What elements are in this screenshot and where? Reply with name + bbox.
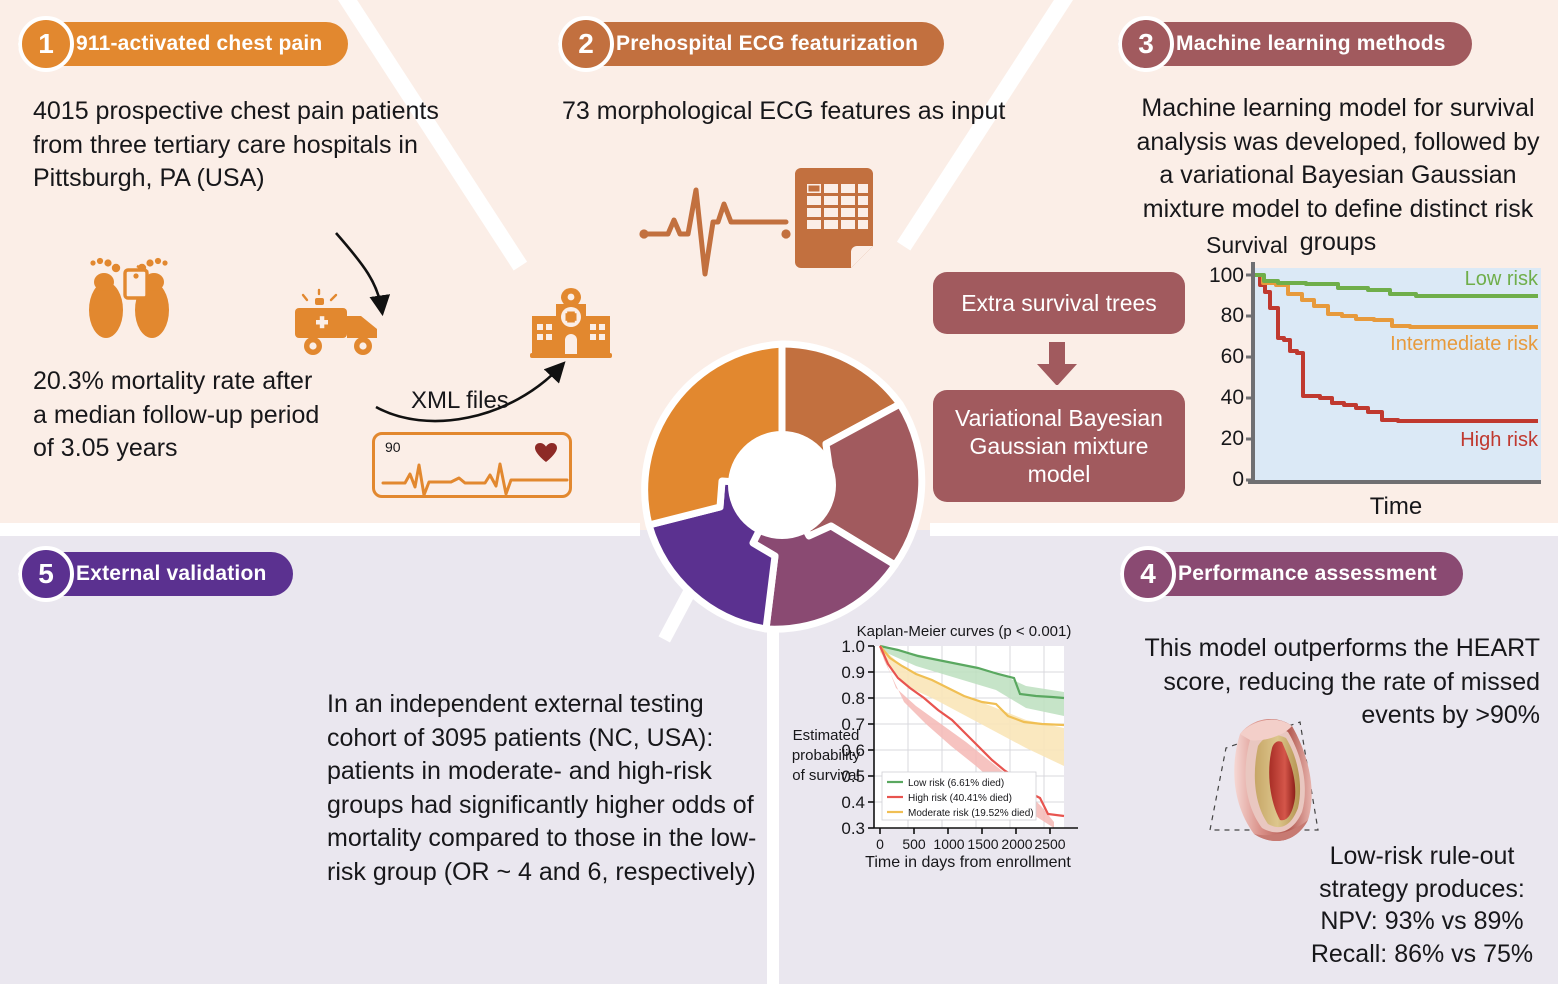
metric-line-4: Recall: 86% vs 75% xyxy=(1296,938,1548,971)
svg-text:40: 40 xyxy=(1221,386,1244,409)
kaplan-meier-svg: Kaplan-Meier curves (p < 0.001) Estimate… xyxy=(786,620,1106,870)
svg-text:1.0: 1.0 xyxy=(841,637,865,656)
spreadsheet-document-icon xyxy=(795,168,873,268)
metric-line-3: NPV: 93% vs 89% xyxy=(1296,905,1548,938)
arrow-down-icon xyxy=(1035,342,1079,386)
divider-vertical-center xyxy=(767,600,779,984)
legend-low-risk: Low risk xyxy=(1465,268,1539,290)
kaplan-meier-chart: Kaplan-Meier curves (p < 0.001) Estimate… xyxy=(786,620,1106,870)
svg-text:0.4: 0.4 xyxy=(841,793,865,812)
km-xticks: 0500 10001500 20002500 xyxy=(876,836,1066,852)
five-step-wheel xyxy=(612,340,952,640)
svg-text:0.3: 0.3 xyxy=(841,819,865,838)
km-legend-high: High risk (40.41% died) xyxy=(908,793,1012,804)
survival-chart-svg: 100 80 60 40 20 0 Low risk In xyxy=(1198,256,1548,522)
km-legend-moderate: Moderate risk (19.52% died) xyxy=(908,808,1034,819)
svg-text:1000: 1000 xyxy=(933,836,964,852)
step-3-header: 3 Machine learning methods xyxy=(1118,22,1472,66)
graphical-abstract: 1 911-activated chest pain 4015 prospect… xyxy=(0,0,1558,984)
step-2-header: 2 Prehospital ECG featurization xyxy=(558,22,944,66)
ecg-strip-icon: 90 xyxy=(372,432,572,498)
legend-intermediate-risk: Intermediate risk xyxy=(1390,333,1539,355)
svg-text:80: 80 xyxy=(1221,304,1244,327)
step-2-body: 73 morphological ECG features as input xyxy=(562,95,1032,129)
survival-chart-title: Survival xyxy=(1206,232,1288,259)
svg-text:20: 20 xyxy=(1221,427,1244,450)
km-xlabel: Time in days from enrollment xyxy=(865,854,1071,871)
svg-text:0.8: 0.8 xyxy=(841,689,865,708)
svg-text:0.9: 0.9 xyxy=(841,663,865,682)
svg-text:0: 0 xyxy=(1232,468,1244,491)
survival-chart: Survival 100 80 60 40 20 0 xyxy=(1198,232,1548,522)
svg-text:0.6: 0.6 xyxy=(841,741,865,760)
legend-high-risk: High risk xyxy=(1460,429,1539,451)
step-5-badge: 5 xyxy=(18,546,74,602)
km-title: Kaplan-Meier curves (p < 0.001) xyxy=(857,623,1072,640)
svg-text:2500: 2500 xyxy=(1034,836,1065,852)
step-4-badge: 4 xyxy=(1120,546,1176,602)
step-4-metrics: Low-risk rule-out strategy produces: NPV… xyxy=(1296,840,1548,970)
svg-text:60: 60 xyxy=(1221,345,1244,368)
step-5-body: In an independent external testing cohor… xyxy=(327,688,767,889)
km-legend-low: Low risk (6.61% died) xyxy=(908,778,1004,789)
svg-text:500: 500 xyxy=(902,836,926,852)
xml-files-label: XML files xyxy=(411,387,509,415)
metric-line-2: strategy produces: xyxy=(1296,873,1548,906)
divider-horizontal-left xyxy=(0,523,640,536)
survival-chart-xlabel: Time xyxy=(1370,493,1422,520)
svg-text:100: 100 xyxy=(1209,264,1244,287)
km-legend: Low risk (6.61% died) High risk (40.41% … xyxy=(882,772,1036,820)
extra-survival-trees-box: Extra survival trees xyxy=(933,272,1185,334)
ecg-waveform-icon xyxy=(640,178,790,278)
step-2-badge: 2 xyxy=(558,16,614,72)
step-1-badge: 1 xyxy=(18,16,74,72)
svg-text:0.7: 0.7 xyxy=(841,715,865,734)
feet-toe-tag-icon xyxy=(78,250,188,360)
step-2-title: Prehospital ECG featurization xyxy=(558,22,944,66)
svg-text:1500: 1500 xyxy=(967,836,998,852)
svg-text:2000: 2000 xyxy=(1001,836,1032,852)
vbgm-box: Variational Bayesian Gaussian mixture mo… xyxy=(933,390,1185,502)
step-5-header: 5 External validation xyxy=(18,552,293,596)
artery-plaque-illustration xyxy=(1196,712,1366,852)
step-3-badge: 3 xyxy=(1118,16,1174,72)
step-1-mortality: 20.3% mortality rate after a median foll… xyxy=(33,365,333,466)
divider-horizontal-right xyxy=(930,523,1558,536)
svg-text:0.5: 0.5 xyxy=(841,767,865,786)
heart-icon xyxy=(535,443,557,463)
svg-text:0: 0 xyxy=(876,836,884,852)
step-1-body: 4015 prospective chest pain patients fro… xyxy=(33,95,453,196)
step-1-header: 1 911-activated chest pain xyxy=(18,22,348,66)
step-4-header: 4 Performance assessment xyxy=(1120,552,1463,596)
